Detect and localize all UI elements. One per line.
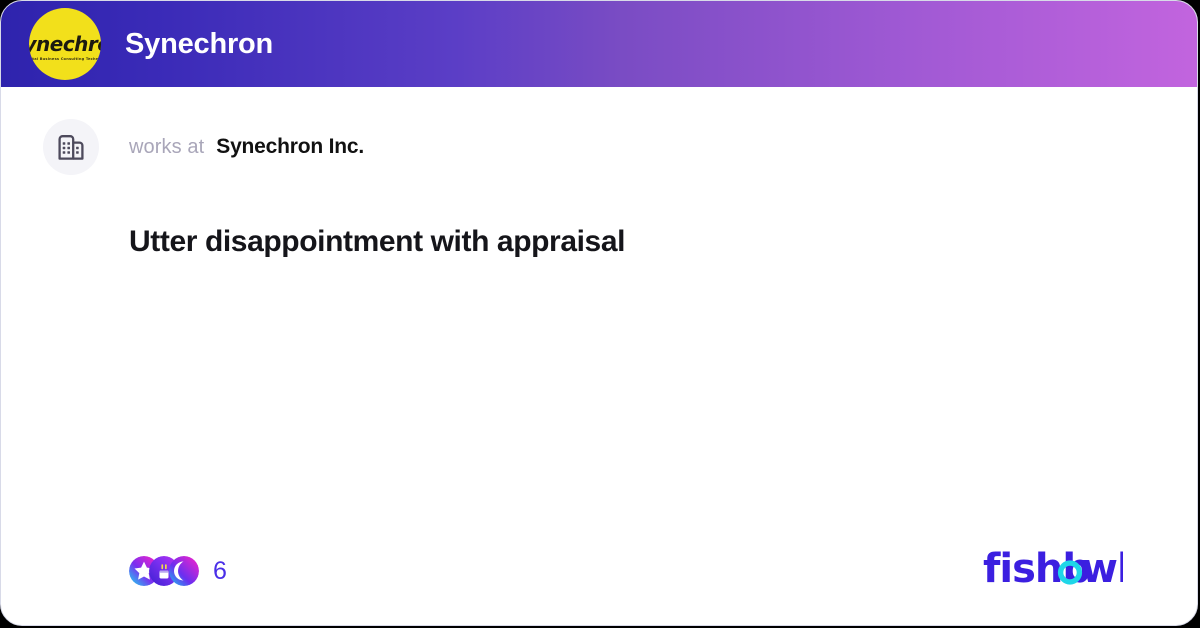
attribution-text: works at Synechron Inc.	[129, 135, 364, 159]
svg-text:fishb: fishb	[983, 548, 1090, 592]
svg-text:wl: wl	[1081, 548, 1123, 592]
reaction-icon-stack	[129, 556, 199, 586]
company-name-title: Synechron	[125, 30, 273, 59]
post-preview-card: ynechro Digital Business Consulting Tech…	[0, 0, 1198, 626]
reaction-count: 6	[213, 559, 227, 584]
synechron-logo-icon: ynechro Digital Business Consulting Tech…	[29, 8, 101, 80]
building-icon	[43, 119, 99, 175]
card-footer: 6 fishb wl	[1, 517, 1197, 625]
works-at-label: works at	[129, 136, 204, 159]
fishbowl-logo: fishb wl	[983, 548, 1123, 594]
reactions-group[interactable]: 6	[129, 556, 227, 586]
attribution-row: works at Synechron Inc.	[1, 87, 1197, 175]
card-body: works at Synechron Inc. Utter disappoint…	[1, 87, 1197, 625]
card-header: ynechro Digital Business Consulting Tech…	[1, 1, 1197, 87]
crescent-reaction-icon	[169, 556, 199, 586]
logo-wordmark: ynechro	[29, 32, 101, 56]
post-title: Utter disappointment with appraisal	[129, 224, 1029, 260]
company-employer-name: Synechron Inc.	[216, 135, 364, 159]
logo-tagline: Digital Business Consulting Technology	[29, 57, 101, 61]
